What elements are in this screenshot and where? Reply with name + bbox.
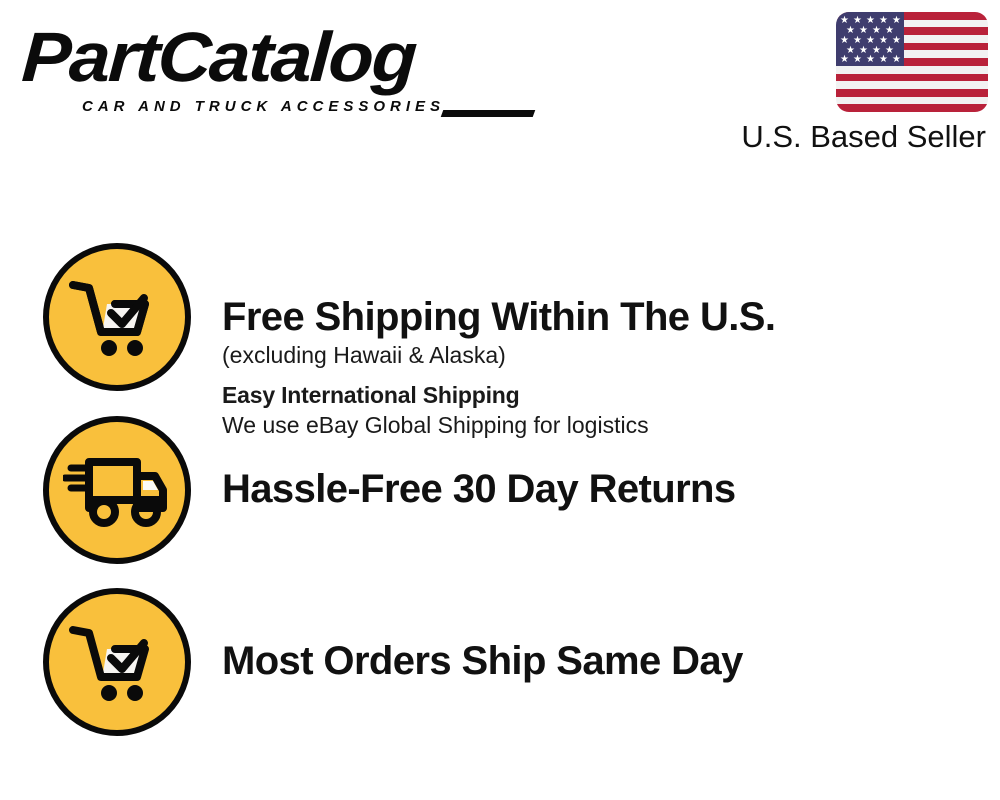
feature-text-block: Hassle-Free 30 Day Returns xyxy=(222,466,982,512)
flag-stripe xyxy=(836,89,988,97)
feature-row: Most Orders Ship Same Day xyxy=(0,588,1000,758)
flag-stripe xyxy=(836,97,988,105)
shopping-cart-check-icon xyxy=(43,243,191,391)
flag-canton: ★ ★ ★ ★ ★ ★ ★ ★ ★ ★ ★ ★ ★ ★ ★ ★ ★ ★ ★ ★ … xyxy=(836,12,904,66)
spacer xyxy=(222,370,982,380)
brand-tagline: CAR AND TRUCK ACCESSORIES xyxy=(82,98,445,116)
brand-tagline-row: CAR AND TRUCK ACCESSORIES xyxy=(82,98,502,120)
brand-wordmark: PartCatalog xyxy=(20,22,417,92)
shopping-cart-check-icon xyxy=(43,588,191,736)
feature-subline: (excluding Hawaii & Alaska) xyxy=(222,340,982,370)
us-based-seller-label: U.S. Based Seller xyxy=(741,118,986,156)
brand-tagline-rule xyxy=(441,110,536,117)
flag-stripe xyxy=(836,66,988,74)
us-flag-icon: ★ ★ ★ ★ ★ ★ ★ ★ ★ ★ ★ ★ ★ ★ ★ ★ ★ ★ ★ ★ … xyxy=(836,12,988,112)
delivery-truck-icon xyxy=(43,416,191,564)
feature-row: Hassle-Free 30 Day Returns xyxy=(0,416,1000,586)
feature-text-block: Most Orders Ship Same Day xyxy=(222,638,982,684)
flag-stripe xyxy=(836,81,988,89)
features-list: Free Shipping Within The U.S. (excluding… xyxy=(0,180,1000,800)
feature-subline-strong: Easy International Shipping xyxy=(222,380,982,410)
feature-headline: Free Shipping Within The U.S. xyxy=(222,294,982,340)
brand-logo[interactable]: PartCatalog CAR AND TRUCK ACCESSORIES xyxy=(24,22,494,117)
feature-headline: Hassle-Free 30 Day Returns xyxy=(222,466,982,512)
header-bar: PartCatalog CAR AND TRUCK ACCESSORIES ★ … xyxy=(0,0,1000,175)
flag-stripe xyxy=(836,74,988,82)
feature-headline: Most Orders Ship Same Day xyxy=(222,638,982,684)
flag-stripe xyxy=(836,104,988,112)
feature-row: Free Shipping Within The U.S. (excluding… xyxy=(0,243,1000,413)
